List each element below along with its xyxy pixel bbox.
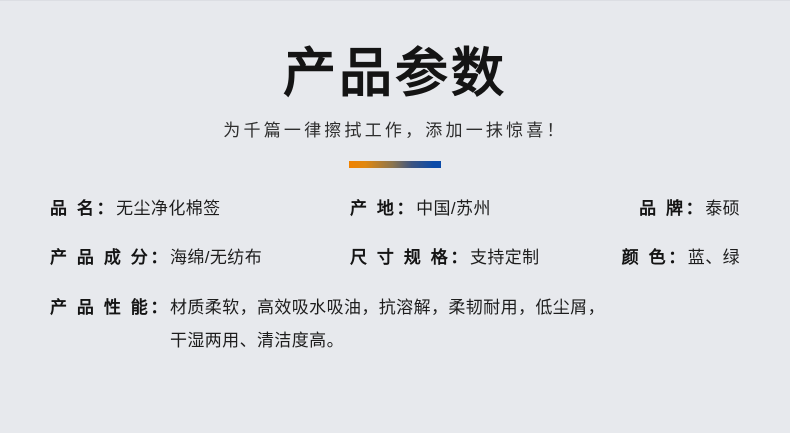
gradient-divider xyxy=(349,161,441,168)
performance-line-1: 材质柔软，高效吸水吸油，抗溶解，柔韧耐用，低尘屑， xyxy=(170,298,605,317)
page-title: 产品参数 xyxy=(0,45,790,102)
spec-label: 尺 寸 规 格： xyxy=(350,243,470,268)
performance-line-2: 干湿两用、清洁度高。 xyxy=(170,325,740,357)
spec-label: 品 牌： xyxy=(639,194,705,219)
spec-cell-color: 颜 色： 蓝、绿 xyxy=(622,243,740,268)
spec-label: 颜 色： xyxy=(622,243,688,268)
page-subtitle: 为千篇一律擦拭工作，添加一抹惊喜！ xyxy=(0,116,790,141)
spec-row: 品 名： 无尘净化棉签 产 地： 中国/苏州 品 牌： 泰硕 xyxy=(50,194,740,219)
spec-value: 海绵/无纺布 xyxy=(170,243,262,268)
spec-value: 无尘净化棉签 xyxy=(116,194,220,219)
divider-container xyxy=(0,161,790,168)
spec-value: 泰硕 xyxy=(705,194,740,219)
product-parameters-page: 产品参数 为千篇一律擦拭工作，添加一抹惊喜！ 品 名： 无尘净化棉签 产 地： … xyxy=(0,0,790,433)
spec-row-performance: 产 品 性 能： 材质柔软，高效吸水吸油，抗溶解，柔韧耐用，低尘屑， 干湿两用、… xyxy=(50,292,740,357)
spec-cell-brand: 品 牌： 泰硕 xyxy=(639,194,740,219)
spec-cell-origin: 产 地： 中国/苏州 xyxy=(350,194,639,219)
spec-label: 产 品 成 分： xyxy=(50,243,170,268)
spec-cell-material: 产 品 成 分： 海绵/无纺布 xyxy=(50,243,350,268)
spec-cell-product-name: 品 名： 无尘净化棉签 xyxy=(50,194,350,219)
spec-value-performance: 材质柔软，高效吸水吸油，抗溶解，柔韧耐用，低尘屑， 干湿两用、清洁度高。 xyxy=(170,292,740,357)
spec-label: 产 地： xyxy=(350,194,416,219)
page-header: 产品参数 为千篇一律擦拭工作，添加一抹惊喜！ xyxy=(0,1,790,168)
spec-table: 品 名： 无尘净化棉签 产 地： 中国/苏州 品 牌： 泰硕 产 品 成 分： … xyxy=(50,194,740,357)
spec-row: 产 品 成 分： 海绵/无纺布 尺 寸 规 格： 支持定制 颜 色： 蓝、绿 xyxy=(50,243,740,268)
spec-value: 中国/苏州 xyxy=(416,194,491,219)
spec-cell-size: 尺 寸 规 格： 支持定制 xyxy=(350,243,622,268)
spec-label: 品 名： xyxy=(50,194,116,219)
spec-value: 支持定制 xyxy=(470,243,540,268)
spec-value: 蓝、绿 xyxy=(688,243,740,268)
spec-label-performance: 产 品 性 能： xyxy=(50,292,170,324)
